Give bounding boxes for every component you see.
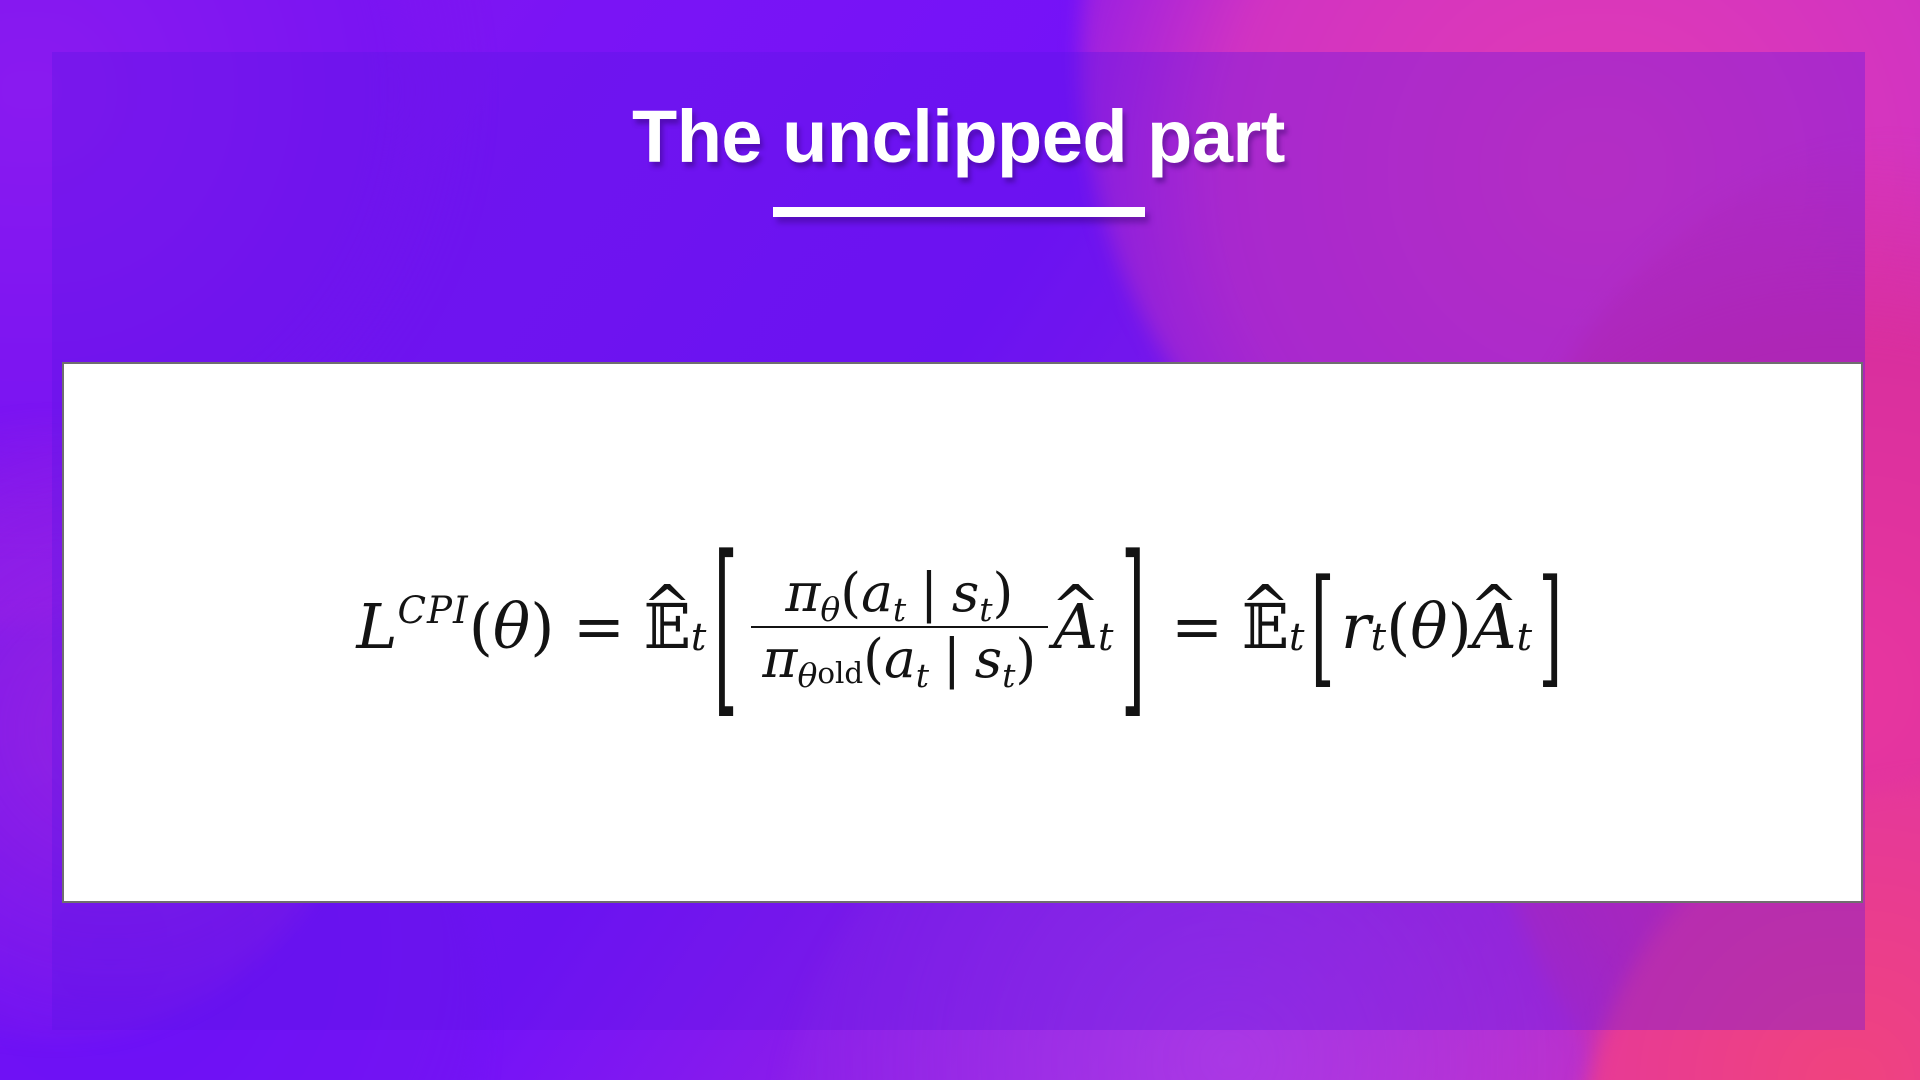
subscript-theta-num: θ: [820, 590, 840, 629]
bracket-close-1: ]: [1121, 532, 1145, 721]
conditional-bar-num: |: [920, 562, 938, 624]
symbol-L: L: [356, 596, 397, 658]
paren-close-den: ): [1015, 628, 1036, 690]
symbol-theta-2: θ: [1410, 596, 1447, 658]
symbol-theta-1: θ: [493, 596, 530, 658]
title-divider: [773, 207, 1145, 217]
paren-open-den: (: [863, 628, 884, 690]
paren-open-2: (: [1386, 596, 1410, 658]
bracket-open-2: [: [1311, 563, 1335, 690]
symbol-a-den: a: [884, 628, 916, 690]
subscript-t-A-2: t: [1517, 619, 1532, 657]
subscript-t-A-1: t: [1098, 619, 1113, 657]
symbol-A-hat-1: ^ A: [1053, 596, 1098, 658]
equation-card: LCPI(θ) = ^ 𝔼 t [ πθ(at|st) πθold(at|st): [62, 362, 1863, 903]
paren-open-num: (: [840, 562, 861, 624]
equation-lhs: LCPI(θ): [356, 596, 554, 658]
paren-close-2: ): [1448, 596, 1472, 658]
subscript-t-s-den: t: [1002, 656, 1015, 695]
paren-close-num: ): [992, 562, 1013, 624]
bracket-open-1: [: [714, 532, 738, 721]
symbol-E-hat-2: ^ 𝔼: [1242, 596, 1289, 658]
conditional-bar-den: |: [943, 628, 961, 690]
subscript-t-1: t: [691, 619, 706, 657]
symbol-A-2: A: [1472, 590, 1517, 663]
subscript-t-2: t: [1289, 619, 1304, 657]
subscript-t-s-num: t: [979, 590, 992, 629]
advantage-term-1: ^ A t: [1053, 596, 1113, 658]
symbol-r: r: [1341, 596, 1371, 658]
symbol-pi-den: π: [762, 628, 797, 690]
slide-root: The unclipped part LCPI(θ) = ^ 𝔼 t [ πθ(…: [0, 0, 1920, 1080]
paren-open-1: (: [469, 596, 493, 658]
expectation-operator-1: ^ 𝔼 t: [644, 596, 707, 658]
slide-header: The unclipped part: [52, 52, 1865, 217]
symbol-s-den: s: [975, 628, 1002, 690]
subscript-t-a-num: t: [893, 590, 906, 629]
symbol-A-hat-2: ^ A: [1472, 596, 1517, 658]
subscript-old: old: [817, 656, 863, 690]
subscript-t-a-den: t: [916, 656, 929, 695]
fraction-denominator: πθold(at|st): [751, 628, 1048, 687]
symbol-A-1: A: [1053, 590, 1098, 663]
subscript-t-r: t: [1371, 619, 1386, 657]
symbol-E-hat-1: ^ 𝔼: [644, 596, 691, 658]
symbol-s-num: s: [952, 562, 979, 624]
symbol-pi-num: π: [785, 562, 820, 624]
fraction-numerator: πθ(at|st): [774, 567, 1025, 626]
ratio-function-term: rt(θ): [1341, 596, 1472, 658]
equals-sign-1: =: [573, 596, 625, 658]
page-title: The unclipped part: [52, 100, 1865, 174]
advantage-term-2: ^ A t: [1472, 596, 1532, 658]
blackboard-E-2: 𝔼: [1242, 590, 1289, 663]
symbol-a-num: a: [861, 562, 893, 624]
expectation-operator-2: ^ 𝔼 t: [1242, 596, 1305, 658]
probability-ratio-fraction: πθ(at|st) πθold(at|st): [751, 567, 1048, 686]
blackboard-E-1: 𝔼: [644, 590, 691, 663]
equals-sign-2: =: [1171, 596, 1223, 658]
subscript-theta-den: θ: [797, 656, 817, 695]
superscript-CPI: CPI: [398, 592, 469, 629]
bracket-close-2: ]: [1538, 563, 1562, 690]
paren-close-1: ): [530, 596, 554, 658]
equation-display: LCPI(θ) = ^ 𝔼 t [ πθ(at|st) πθold(at|st): [356, 567, 1568, 686]
